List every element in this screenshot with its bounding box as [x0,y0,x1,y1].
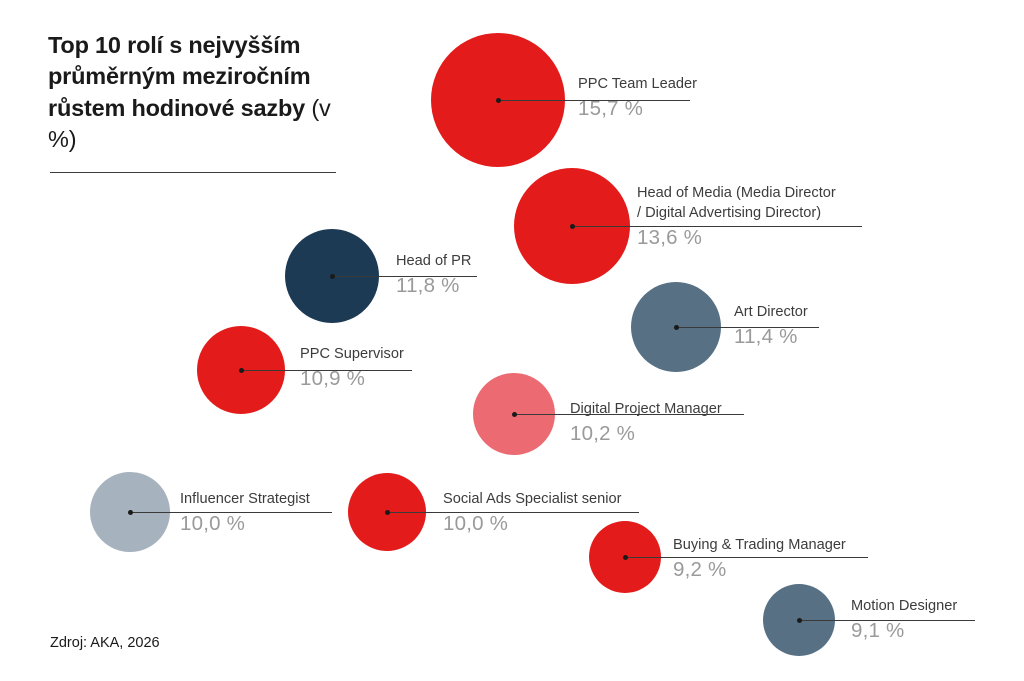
source-note: Zdroj: AKA, 2026 [50,635,160,651]
leader-dot [570,224,575,229]
leader-dot [128,510,133,515]
bubble-label-name: Digital Project Manager [570,399,722,419]
leader-dot [496,98,501,103]
bubble-label-value: 9,1 % [851,619,957,643]
bubble-label: Head of Media (Media Director/ Digital A… [637,183,836,250]
bubble-label: PPC Team Leader15,7 % [578,74,697,121]
bubble-label-value: 9,2 % [673,558,846,582]
bubble-label: Buying & Trading Manager9,2 % [673,535,846,582]
bubble-label-name: PPC Team Leader [578,74,697,94]
leader-dot [797,618,802,623]
bubble-label: Head of PR11,8 % [396,251,471,298]
bubble-label-value: 10,9 % [300,367,404,391]
title-block: Top 10 rolí s nejvyšším průměrným meziro… [48,30,348,155]
bubble-label-name: Influencer Strategist [180,489,310,509]
leader-dot [385,510,390,515]
page-title-main: Top 10 rolí s nejvyšším průměrným meziro… [48,32,310,121]
bubble-label-name: Motion Designer [851,596,957,616]
page-title: Top 10 rolí s nejvyšším průměrným meziro… [48,30,348,155]
leader-dot [239,368,244,373]
leader-dot [512,412,517,417]
bubble-label-value: 15,7 % [578,97,697,121]
bubble-label: Motion Designer9,1 % [851,596,957,643]
bubble-label-name: Buying & Trading Manager [673,535,846,555]
bubble-label-value: 13,6 % [637,226,836,250]
bubble-label: Art Director11,4 % [734,302,808,349]
bubble-label: PPC Supervisor10,9 % [300,344,404,391]
title-divider [50,172,336,173]
bubble-label-name: Head of Media (Media Director [637,183,836,203]
bubble-chart-canvas: Top 10 rolí s nejvyšším průměrným meziro… [0,0,1024,681]
bubble-label-value: 11,8 % [396,274,471,298]
bubble-label: Influencer Strategist10,0 % [180,489,310,536]
bubble-label-name: PPC Supervisor [300,344,404,364]
leader-dot [623,555,628,560]
bubble-label-value: 11,4 % [734,325,808,349]
bubble-label-name: Social Ads Specialist senior [443,489,621,509]
leader-dot [330,274,335,279]
bubble-label-name: Art Director [734,302,808,322]
bubble-label-name: Head of PR [396,251,471,271]
bubble-label-name-line2: / Digital Advertising Director) [637,203,836,223]
leader-dot [674,325,679,330]
bubble-label: Social Ads Specialist senior10,0 % [443,489,621,536]
bubble-label-value: 10,0 % [180,512,310,536]
bubble-label: Digital Project Manager10,2 % [570,399,722,446]
bubble-label-value: 10,2 % [570,422,722,446]
bubble-label-value: 10,0 % [443,512,621,536]
